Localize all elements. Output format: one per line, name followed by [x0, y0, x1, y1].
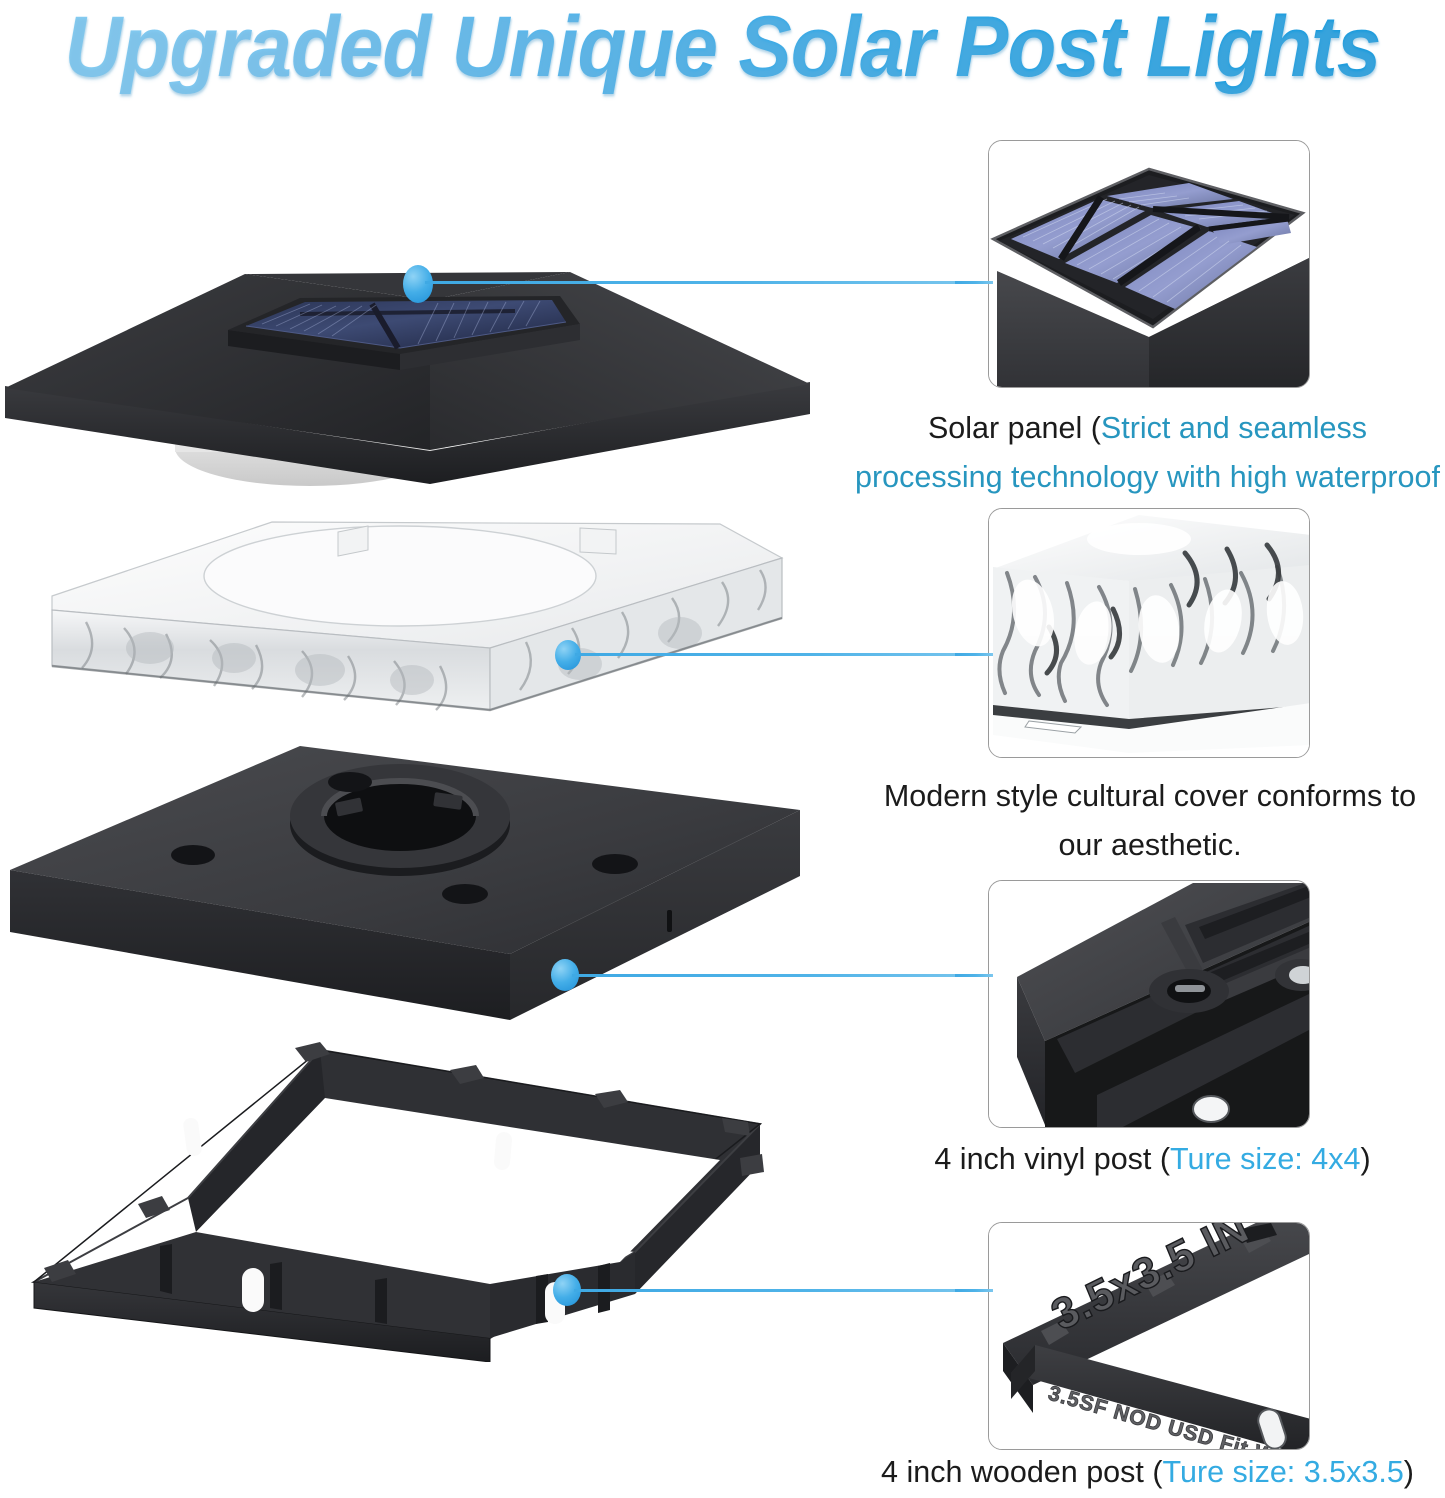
- caption-vinyl-post-tail: ): [1360, 1142, 1370, 1176]
- callout-glass-cover-closeup: [988, 508, 1310, 758]
- caption-vinyl-post-highlight: Ture size: 4x4: [1170, 1142, 1360, 1176]
- callout-wooden-post-closeup: 3.5x3.5 IN 3.5SF NOD USD Fit W: [988, 1222, 1310, 1450]
- callout-line-base-plate: [572, 974, 1000, 977]
- caption-glass-cover: Modern style cultural cover conforms to …: [860, 772, 1440, 870]
- page-title-container: Upgraded Unique Solar Post Lights: [0, 0, 1445, 95]
- infographic-page: Upgraded Unique Solar Post Lights: [0, 0, 1445, 1498]
- callout-vinyl-post-closeup: [988, 880, 1310, 1128]
- page-title: Upgraded Unique Solar Post Lights: [65, 0, 1381, 97]
- product-part-base-plate: [0, 742, 810, 1047]
- caption-vinyl-post-lead: 4 inch vinyl post (: [934, 1142, 1170, 1176]
- caption-solar-panel-lead: Solar panel (: [928, 411, 1101, 445]
- caption-wooden-post: 4 inch wooden post (Ture size: 3.5x3.5): [850, 1448, 1445, 1497]
- callout-line-post-adapter: [574, 1289, 1000, 1292]
- callout-line-entry-vinyl: [955, 974, 993, 977]
- caption-wooden-post-lead: 4 inch wooden post (: [881, 1455, 1162, 1489]
- callout-line-entry-glass: [955, 653, 993, 656]
- caption-glass-cover-text: Modern style cultural cover conforms to …: [884, 779, 1416, 862]
- callout-line-glass-cover: [575, 653, 1000, 656]
- callout-solar-panel-closeup: [988, 140, 1310, 388]
- caption-wooden-post-tail: ): [1404, 1455, 1414, 1489]
- product-part-glass-cover: [20, 498, 820, 728]
- callout-line-entry-solar: [955, 281, 993, 284]
- caption-vinyl-post: 4 inch vinyl post (Ture size: 4x4): [880, 1135, 1425, 1184]
- callout-line-entry-wooden: [955, 1289, 993, 1292]
- callout-line-solar-panel: [425, 281, 1000, 284]
- caption-wooden-post-highlight: Ture size: 3.5x3.5: [1163, 1455, 1404, 1489]
- product-part-post-adapter: [20, 1032, 820, 1362]
- callout-dot-solar-panel: [403, 265, 433, 303]
